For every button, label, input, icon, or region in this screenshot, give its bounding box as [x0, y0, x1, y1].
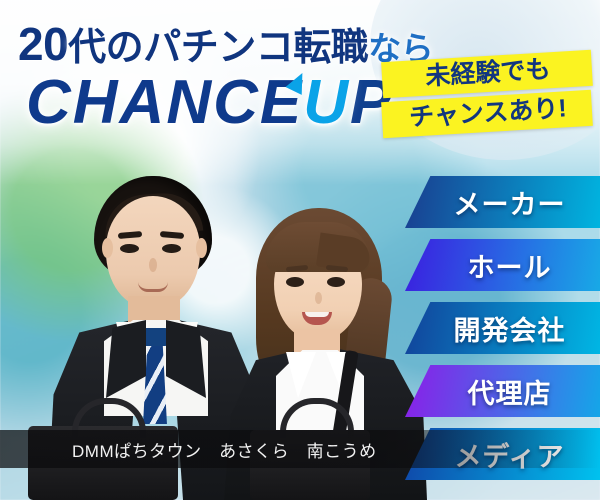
category-label-developer: 開発会社 [440, 309, 566, 348]
category-label-hall: ホール [454, 246, 552, 285]
woman-eye-right [327, 277, 345, 287]
category-label-maker: メーカー [440, 183, 566, 222]
caption-bar: DMMぱちタウン あさくら 南こうめ [0, 430, 600, 468]
woman-nose [315, 292, 322, 304]
headline-number: 20 [18, 18, 68, 70]
man-ear-left [102, 238, 113, 258]
category-label-agency: 代理店 [454, 372, 552, 411]
ad-banner[interactable]: 20代のパチンコ転職なら CHANCEUP 未経験でも チャンスあり! メーカー… [0, 0, 600, 500]
headline-main: パチンコ転職 [143, 27, 368, 69]
woman-bangs [266, 222, 370, 272]
logo-u-letter: U [303, 68, 350, 137]
category-button-hall[interactable]: ホール [405, 239, 600, 291]
headline-dai: 代の [68, 27, 143, 69]
category-button-maker[interactable]: メーカー [405, 176, 600, 228]
category-button-developer[interactable]: 開発会社 [405, 302, 600, 354]
caption-text: DMMぱちタウン あさくら 南こうめ [0, 437, 377, 462]
badge-line-2: チャンスあり! [381, 90, 593, 138]
man-eye-left [120, 244, 139, 253]
man-eye-right [162, 244, 181, 253]
headline: 20代のパチンコ転職なら [18, 16, 433, 71]
chance-up-logo: CHANCEUP [26, 72, 393, 134]
badge: 未経験でも チャンスあり! [382, 56, 592, 132]
logo-chance-text: CHANCE [26, 68, 303, 137]
category-button-agency[interactable]: 代理店 [405, 365, 600, 417]
man-ear-right [196, 238, 207, 258]
man-nose [149, 258, 157, 272]
woman-eye-left [286, 277, 304, 287]
